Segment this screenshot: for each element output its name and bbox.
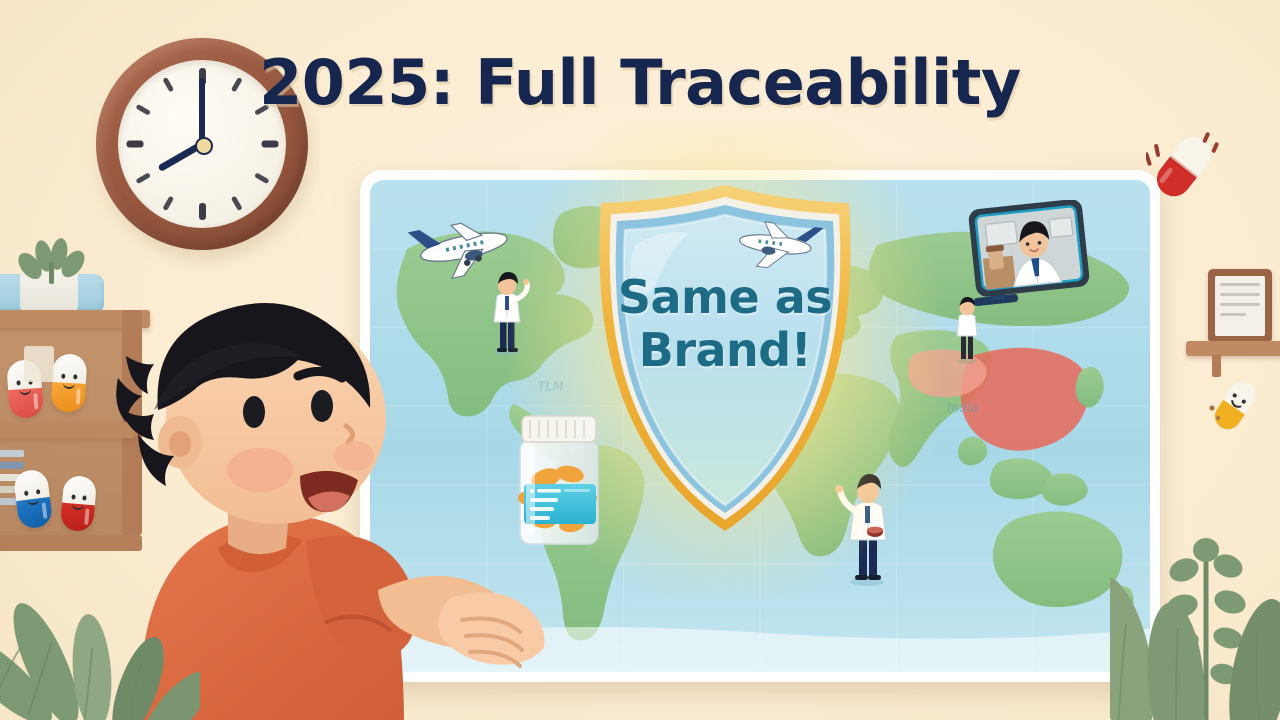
capsule-highlight [75, 388, 80, 404]
clock-tick-5 [230, 196, 242, 211]
framed-document [1208, 269, 1272, 343]
clock-tick-8 [135, 172, 150, 184]
document-line [1220, 283, 1260, 286]
clock-tick-7 [162, 196, 174, 211]
shelf-box-small [24, 346, 54, 382]
clock-tick-9 [126, 141, 143, 148]
svg-text:India: India [947, 401, 978, 416]
page-title: 2025: Full Traceability [0, 46, 1280, 119]
pill-bottle [506, 412, 614, 552]
shelf-bracket [1212, 355, 1221, 377]
clock-tick-6 [199, 203, 206, 220]
document-line [1220, 313, 1246, 316]
framed-document-paper [1215, 276, 1265, 336]
capsule-floating-yellow [1208, 378, 1264, 434]
airplane-on-shield-icon [735, 219, 825, 275]
document-line [1220, 293, 1260, 296]
plant-bottom-left [0, 560, 200, 720]
capsule-floating-red [1146, 128, 1222, 206]
clock-tick-4 [254, 172, 269, 184]
document-line [1220, 303, 1260, 306]
clock-tick-3 [261, 141, 278, 148]
telemedicine-monitor [966, 200, 1096, 318]
shelf-board [1186, 341, 1280, 356]
plant-bottom-right [1110, 470, 1280, 720]
illustration-canvas: TLM India [0, 0, 1280, 720]
right-wall-shelf [1186, 255, 1280, 385]
clock-center-pin [195, 137, 213, 155]
potted-plant-leaves-icon [16, 238, 90, 288]
capsule-orange [51, 353, 88, 413]
